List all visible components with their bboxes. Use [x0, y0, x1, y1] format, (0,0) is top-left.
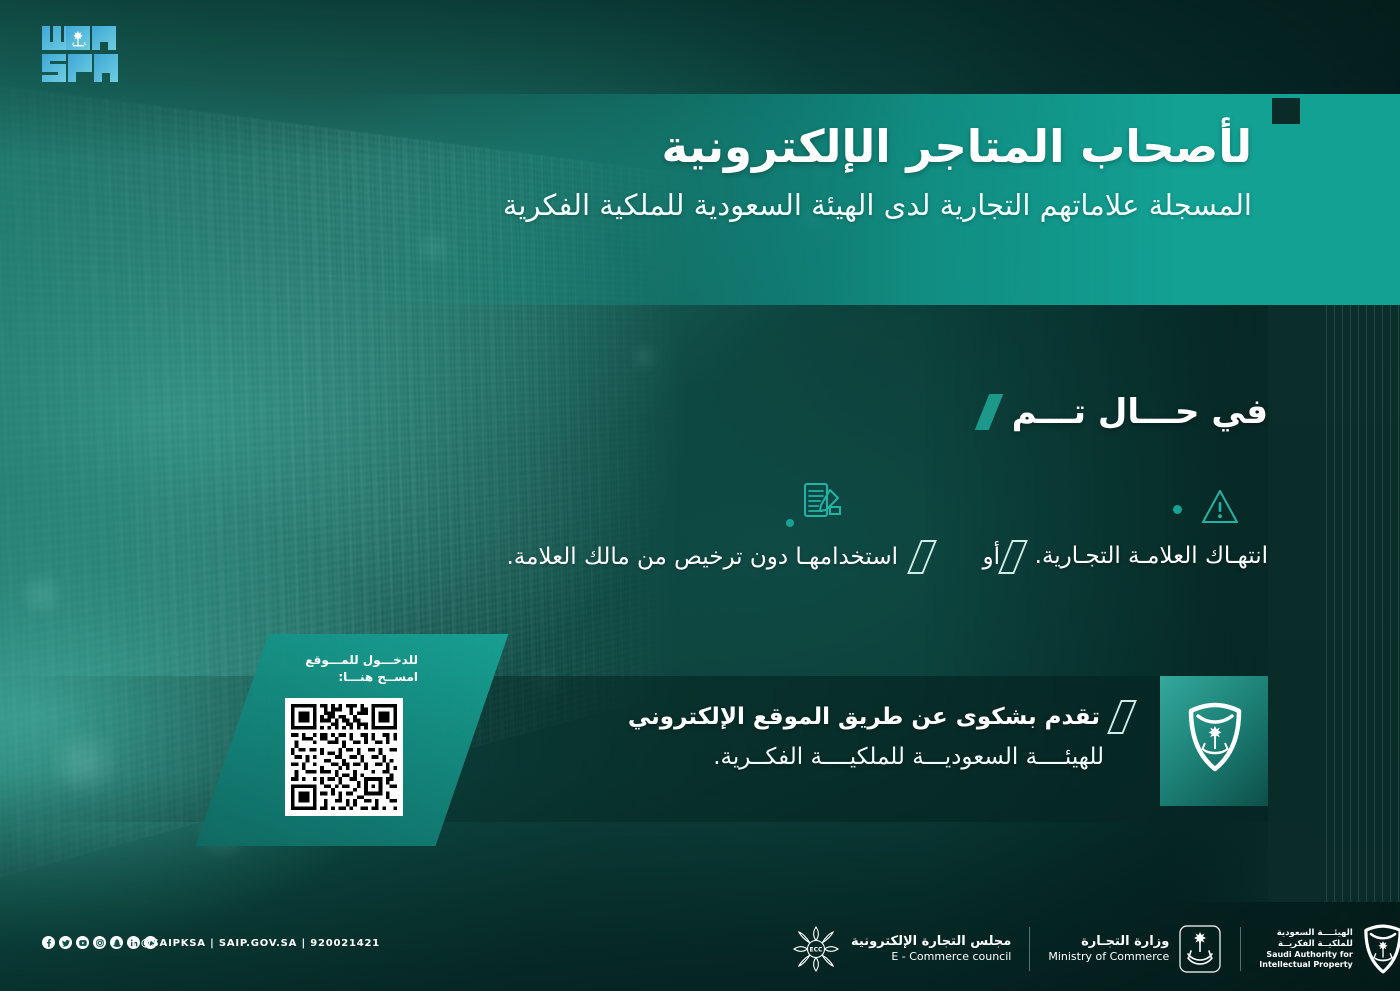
qr-label-line2: امســح هنـــا: [270, 669, 418, 686]
snapchat-icon[interactable] [110, 936, 123, 949]
page-subtitle: المسجلة علاماتهم التجارية لدى الهيئة الس… [0, 187, 1252, 225]
twitter-icon[interactable] [59, 936, 72, 949]
header-notch-decoration [1272, 98, 1300, 124]
condition-item-violation-label: انتهـاك العلامـة التجـارية. [1035, 541, 1268, 572]
saip-authority-logo: الهيئــــة السعودية للملكيــة الفكريــة … [1259, 924, 1400, 974]
complaint-subline: للهيئــــة السعوديـــة للملكيــــة الفكـ… [628, 744, 1130, 770]
instagram-icon[interactable] [93, 936, 106, 949]
saip-english-line1: Saudi Authority for [1259, 950, 1352, 960]
footer-divider-2 [1240, 927, 1241, 971]
facebook-icon[interactable] [42, 936, 55, 949]
infographic-poster: لأصحاب المتاجر الإلكترونية المسجلة علاما… [0, 0, 1400, 991]
condition-item-violation: انتهـاك العلامـة التجـارية. [1005, 540, 1268, 574]
saip-shield-logo [1186, 702, 1244, 772]
right-rail-line-pattern [1326, 305, 1400, 902]
condition-section-header: في حـــال تـــم [982, 392, 1268, 432]
ecommerce-council-logo: ECC مجلس التجارة الإلكترونية E - Commerc… [790, 923, 1011, 975]
accent-dot-violation [1173, 505, 1182, 514]
youtube-icon[interactable] [76, 936, 89, 949]
qr-label-line1: للدخـــول للمـــوقع [270, 652, 418, 669]
ecommerce-council-english: E - Commerce council [851, 950, 1011, 964]
qr-label-block: للدخـــول للمـــوقع امســح هنـــا: [270, 652, 418, 687]
condition-item-usage: استخدامهـا دون ترخيص من مالك العلامة. [506, 540, 930, 574]
ministry-of-commerce-arabic: وزارة التجـارة [1048, 934, 1169, 950]
document-pen-icon [800, 480, 846, 526]
page-title: لأصحاب المتاجر الإلكترونية [0, 120, 1252, 173]
svg-text:ECC: ECC [810, 947, 824, 954]
accent-dot-usage [786, 519, 794, 527]
saudi-emblem-icon [1178, 924, 1222, 974]
saip-shield-icon [1362, 924, 1400, 974]
complaint-headline: تقدم بشكوى عن طريق الموقع الإلكتروني [628, 704, 1100, 730]
complaint-text-block: تقدم بشكوى عن طريق الموقع الإلكتروني لله… [628, 700, 1130, 770]
qr-code[interactable] [285, 698, 403, 816]
ecc-mark-icon: ECC [790, 923, 842, 975]
saip-english-line2: Intellectual Property [1259, 960, 1352, 970]
footer-partner-logos: ECC مجلس التجارة الإلكترونية E - Commerc… [790, 918, 1400, 980]
condition-item-usage-label: استخدامهـا دون ترخيص من مالك العلامة. [506, 544, 898, 570]
condition-connector: أو [983, 544, 1001, 570]
saip-arabic-line1: الهيئــــة السعودية [1259, 928, 1352, 939]
ministry-of-commerce-logo: وزارة التجـارة Ministry of Commerce [1048, 924, 1222, 974]
warning-triangle-icon [1200, 488, 1240, 526]
ministry-of-commerce-english: Ministry of Commerce [1048, 950, 1169, 964]
condition-section-title: في حـــال تـــم [1012, 392, 1268, 432]
footer-contact-info: | @SAIPKSA | SAIP.GOV.SA | 920021421 [132, 938, 380, 949]
footer-divider-1 [1029, 927, 1030, 971]
spa-saudi-press-agency-logo [40, 24, 120, 86]
header-text-block: لأصحاب المتاجر الإلكترونية المسجلة علاما… [0, 120, 1252, 225]
saip-arabic-line2: للملكيــة الفكريــة [1259, 939, 1352, 950]
ecommerce-council-arabic: مجلس التجارة الإلكترونية [851, 934, 1011, 950]
